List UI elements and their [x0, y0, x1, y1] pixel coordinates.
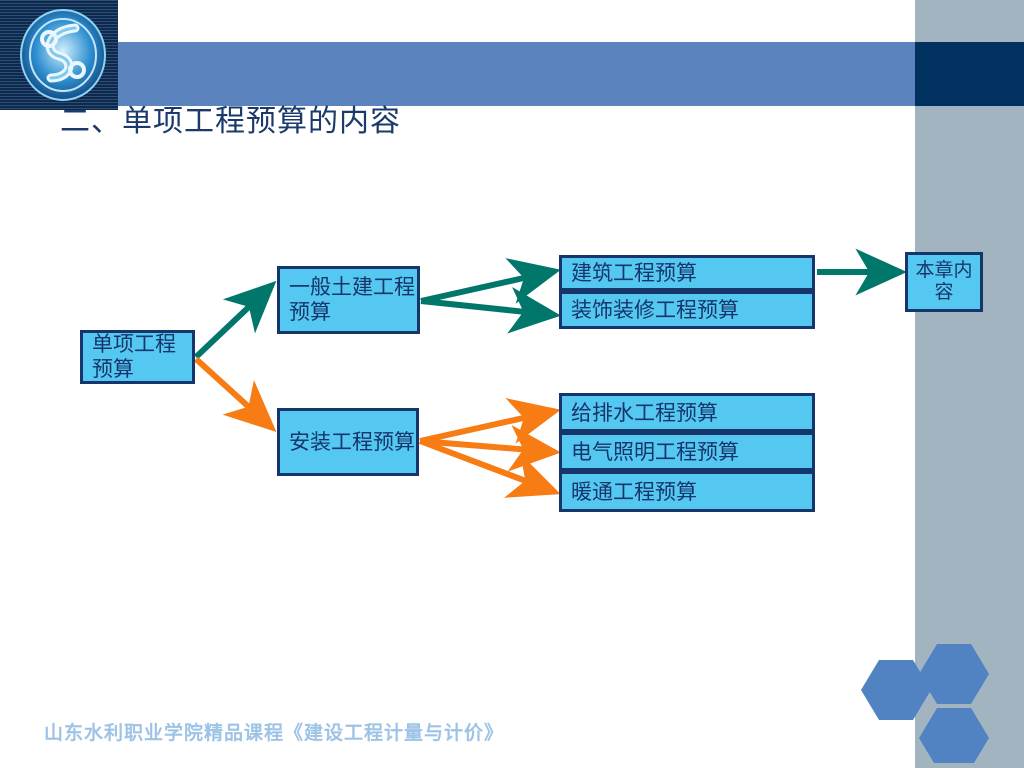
hexagon-left: [861, 660, 931, 720]
node-zhuangshi-zhuangxiu-gongcheng-yusuan[interactable]: 装饰装修工程预算: [559, 291, 815, 329]
node-label: 本章内容: [908, 260, 980, 304]
hexagon-top-right: [919, 644, 989, 704]
node-label: 建筑工程预算: [571, 261, 697, 285]
node-label: 安装工程预算: [289, 430, 416, 455]
node-label: 一般土建工程预算: [289, 275, 417, 325]
node-label: 电气照明工程预算: [571, 440, 739, 464]
node-label: 给排水工程预算: [571, 401, 718, 425]
edge-anzhuang-jipaishui: [420, 411, 555, 441]
edge-danxiang-anzhuang: [196, 359, 272, 428]
slide-canvas: 二、单项工程预算的内容 单项工程预算 一般土建工程预算 安装工程: [0, 0, 1024, 768]
edge-tujian-jianzhu: [421, 271, 555, 301]
node-anzhuang-gongcheng-yusuan[interactable]: 安装工程预算: [277, 408, 419, 476]
node-benzhang-neirong[interactable]: 本章内容: [905, 252, 983, 312]
node-label: 装饰装修工程预算: [571, 298, 739, 322]
node-yiban-tujian-gongcheng-yusuan[interactable]: 一般土建工程预算: [277, 266, 420, 334]
footer-course-credit: 山东水利职业学院精品课程《建设工程计量与计价》: [44, 722, 504, 746]
edge-tujian-zhuangshi: [421, 301, 555, 315]
edge-danxiang-tujian: [196, 285, 272, 357]
node-jianzhu-gongcheng-yusuan[interactable]: 建筑工程预算: [559, 255, 815, 291]
node-nuantong-gongcheng-yusuan[interactable]: 暖通工程预算: [559, 471, 815, 512]
node-label: 暖通工程预算: [571, 480, 697, 504]
node-jipaishui-gongcheng-yusuan[interactable]: 给排水工程预算: [559, 393, 815, 432]
node-danxiang-gongcheng-yusuan[interactable]: 单项工程预算: [80, 330, 195, 384]
node-label: 单项工程预算: [92, 332, 192, 382]
hexagon-bottom-right: [919, 708, 989, 763]
hexagon-decoration: [855, 628, 995, 763]
node-dianqi-zhaoming-gongcheng-yusuan[interactable]: 电气照明工程预算: [559, 432, 815, 471]
